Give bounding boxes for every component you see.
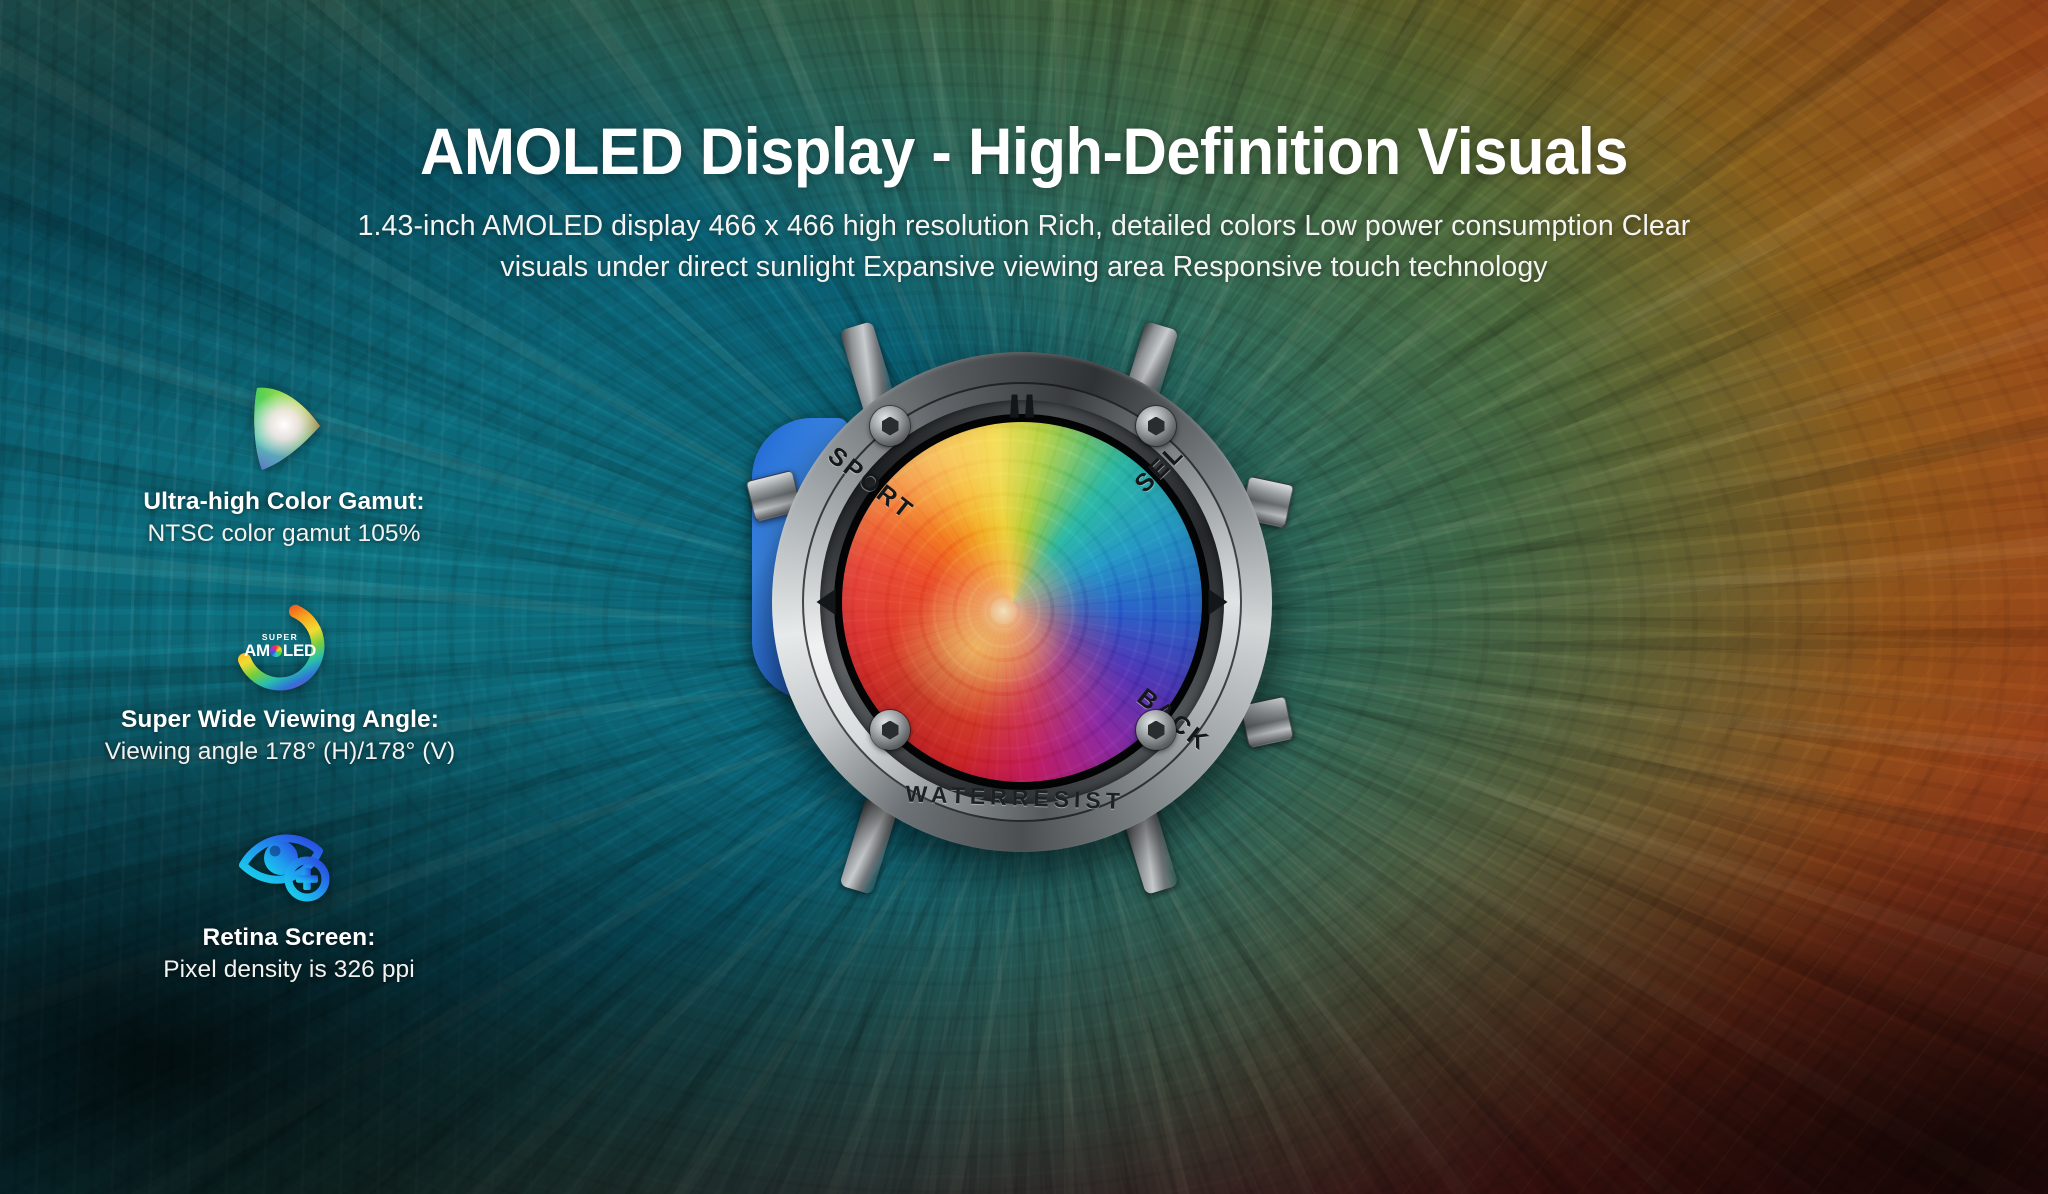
- page-title: AMOLED Display - High-Definition Visuals: [72, 0, 1977, 184]
- feature-item-color-gamut: Ultra-high Color Gamut: NTSC color gamut…: [0, 380, 560, 548]
- feature-list: Ultra-high Color Gamut: NTSC color gamut…: [0, 380, 560, 984]
- watch-bezel-screw-top-left: [870, 406, 910, 446]
- watch-bezel-screw-bottom-left: [870, 710, 910, 750]
- color-gamut-triangle-icon: [8, 380, 560, 476]
- feature-item-viewing-angle: SUPER AM LED Super Wide Viewing Angle: V…: [0, 598, 560, 766]
- feature-description: Viewing angle 178° (H)/178° (V): [0, 738, 560, 766]
- feature-description: NTSC color gamut 105%: [8, 520, 560, 548]
- feature-item-retina: Retina Screen: Pixel density is 326 ppi: [0, 816, 560, 984]
- watch-bezel-screw-bottom-right: [1136, 710, 1176, 750]
- banner-header: AMOLED Display - High-Definition Visuals…: [0, 0, 2048, 288]
- amoled-display-product-banner: AMOLED Display - High-Definition Visuals…: [0, 0, 2048, 1194]
- retina-eye-zoom-icon: [18, 816, 560, 912]
- feature-title: Super Wide Viewing Angle:: [0, 706, 560, 734]
- feature-title: Ultra-high Color Gamut:: [8, 488, 560, 516]
- page-subtitle: 1.43-inch AMOLED display 466 x 466 high …: [329, 206, 1719, 288]
- watch-bezel-screw-top-right: [1136, 406, 1176, 446]
- feature-title: Retina Screen:: [18, 924, 560, 952]
- feature-description: Pixel density is 326 ppi: [18, 956, 560, 984]
- smartwatch-product-image: SPORT SEL BACK WATERRESIST: [744, 300, 1304, 920]
- super-amoled-logo-icon: SUPER AM LED: [0, 598, 560, 694]
